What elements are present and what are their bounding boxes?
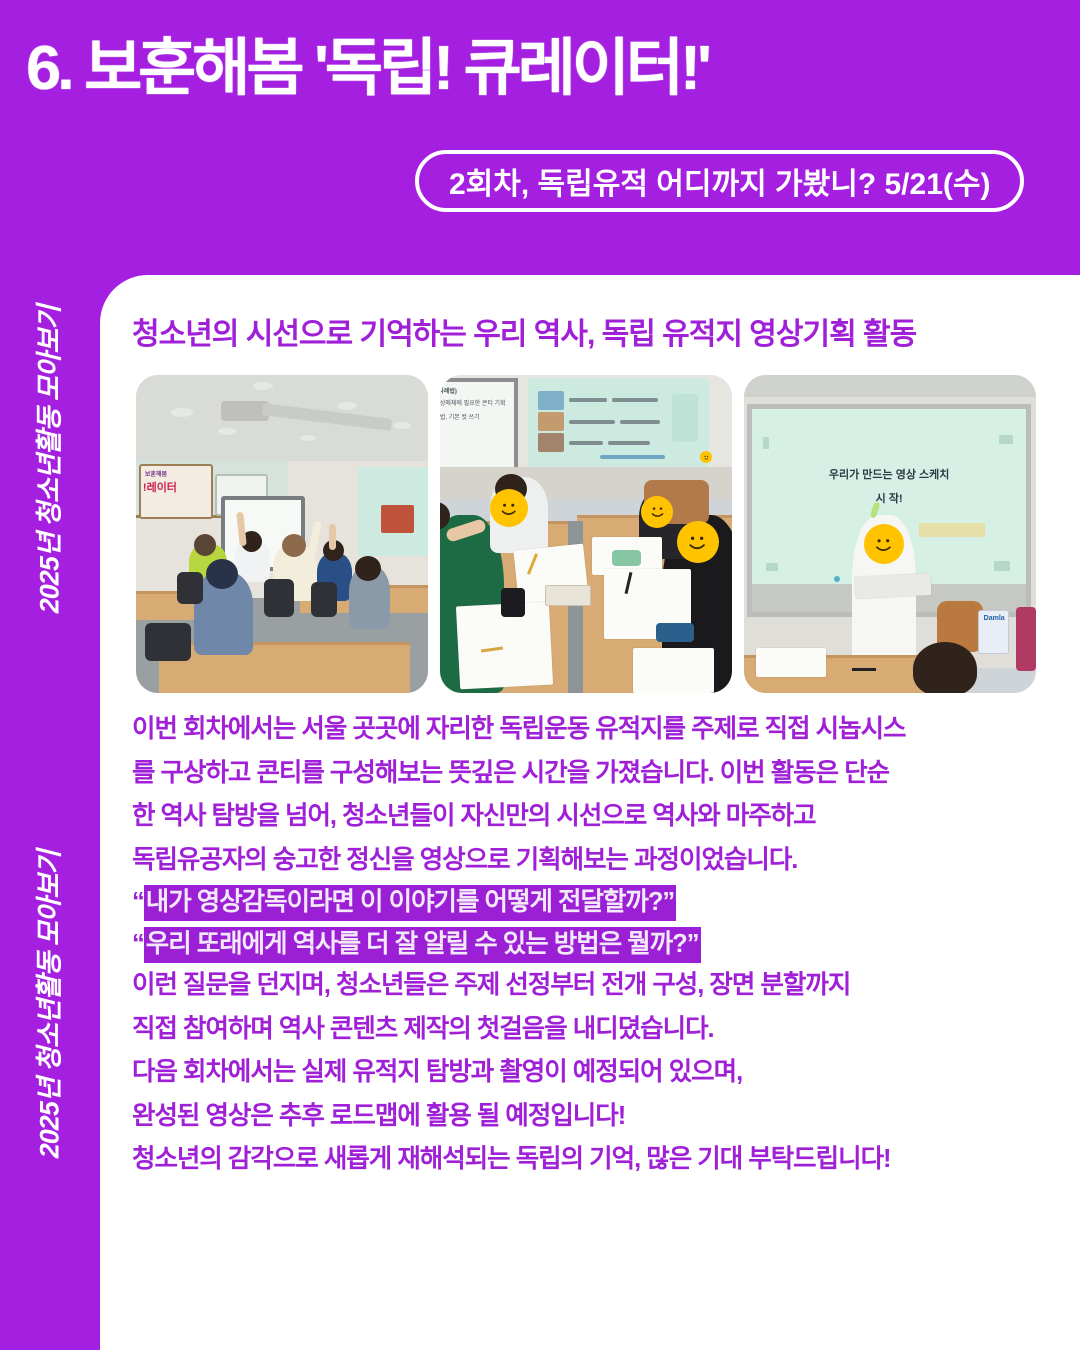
projection-screen	[528, 378, 709, 467]
body-line: 한 역사 탐방을 넘어, 청소년들이 자신만의 시선으로 역사와 마주하고	[132, 804, 1054, 830]
chair	[264, 579, 293, 617]
body-text: 이번 회차에서는 서울 곳곳에 자리한 독립운동 유적지를 주제로 직접 시놉시…	[132, 717, 1054, 1173]
body-line: 다음 회차에서는 실제 유적지 탐방과 촬영이 예정되어 있으며,	[132, 1060, 1054, 1086]
body-line: 이번 회차에서는 서울 곳곳에 자리한 독립운동 유적지를 주제로 직접 시놉시…	[132, 717, 1054, 743]
body-line: 청소년의 감각으로 새롭게 재해석되는 독립의 기억, 많은 기대 부탁드립니다…	[132, 1147, 1054, 1173]
worksheet	[633, 648, 715, 693]
smiley-face-mask	[677, 521, 719, 563]
slide-title-line1: 우리가 만드는 영상 스케치	[752, 466, 1026, 482]
smiley-sticker	[700, 451, 712, 463]
slide-title-line2: 시 작!	[752, 490, 1026, 506]
poster-caption: 보훈해봄	[145, 469, 167, 478]
body-line: 를 구상하고 콘티를 구성해보는 뜻깊은 시간을 가졌습니다. 이번 활동은 단…	[132, 761, 1054, 787]
content-card: 청소년의 시선으로 기억하는 우리 역사, 독립 유적지 영상기획 활동 보훈해…	[100, 275, 1080, 1350]
vertical-series-label-top: 2025년 청소년활동 모아보기	[28, 295, 67, 625]
pencil-case	[545, 585, 591, 606]
paper	[756, 648, 826, 677]
whiteboard: (사례법) 영상매체에 필요한 콘티 기획 방법, 기본 컷 쓰기	[440, 378, 518, 475]
audience-head	[913, 642, 977, 693]
photo-presentation-screen: 우리가 만드는 영상 스케치 시 작! Damla	[744, 375, 1036, 693]
photo-students-desk-worksheets: (사례법) 영상매체에 필요한 콘티 기획 방법, 기본 컷 쓰기	[440, 375, 732, 693]
vertical-series-label-bottom: 2025년 청소년활동 모아보기	[28, 840, 67, 1170]
chair	[177, 572, 203, 604]
smiley-face-mask	[641, 496, 673, 528]
body-line: 직접 참여하며 역사 콘텐츠 제작의 첫걸음을 내디뎠습니다.	[132, 1017, 1054, 1043]
ceiling	[136, 375, 428, 461]
page-header: 6. 보훈해봄 '독립! 큐레이터!' 2회차, 독립유적 어디까지 가봤니? …	[0, 0, 1080, 275]
poster-title: !레이터	[143, 479, 177, 495]
drink-carton: Damla	[978, 610, 1009, 653]
quote-text: 내가 영상감독이라면 이 이야기를 어떻게 전달할까?”	[144, 885, 676, 921]
pen	[852, 668, 876, 671]
highlighted-quote: “내가 영상감독이라면 이 이야기를 어떻게 전달할까?”	[132, 890, 1054, 916]
photo-strip: 보훈해봄 !레이터	[136, 375, 1080, 693]
smiley-face-mask	[864, 524, 904, 564]
wall-poster: 보훈해봄 !레이터	[139, 464, 213, 519]
photo-classroom-hands-raised: 보훈해봄 !레이터	[136, 375, 428, 693]
body-line: 이런 질문을 던지며, 청소년들은 주제 선정부터 전개 구성, 장면 분할까지	[132, 973, 1054, 999]
highlighted-quote: “우리 또래에게 역사를 더 잘 알릴 수 있는 방법은 뭘까?”	[132, 932, 1054, 958]
held-paper	[854, 573, 931, 599]
smartphone	[612, 550, 641, 566]
projection-screen	[358, 467, 428, 556]
quote-open-mark: “	[132, 930, 144, 958]
session-pill-badge: 2회차, 독립유적 어디까지 가봤니? 5/21(수)	[415, 150, 1024, 212]
page-title: 6. 보훈해봄 '독립! 큐레이터!'	[26, 38, 1056, 100]
water-bottle	[1016, 607, 1036, 671]
smartphone	[501, 588, 524, 617]
smiley-face-mask	[490, 489, 528, 527]
product-label: Damla	[980, 615, 1009, 622]
body-line: 완성된 영상은 추후 로드맵에 활용 될 예정입니다!	[132, 1104, 1054, 1130]
chair	[311, 582, 337, 617]
ceiling-light	[261, 403, 391, 431]
smartphone	[656, 623, 694, 642]
chair	[145, 623, 192, 661]
quote-text: 우리 또래에게 역사를 더 잘 알릴 수 있는 방법은 뭘까?”	[144, 927, 701, 963]
card-heading: 청소년의 시선으로 기억하는 우리 역사, 독립 유적지 영상기획 활동	[132, 309, 1080, 353]
body-line: 독립유공자의 숭고한 정신을 영상으로 기획해보는 과정이었습니다.	[132, 848, 1054, 874]
quote-open-mark: “	[132, 888, 144, 916]
